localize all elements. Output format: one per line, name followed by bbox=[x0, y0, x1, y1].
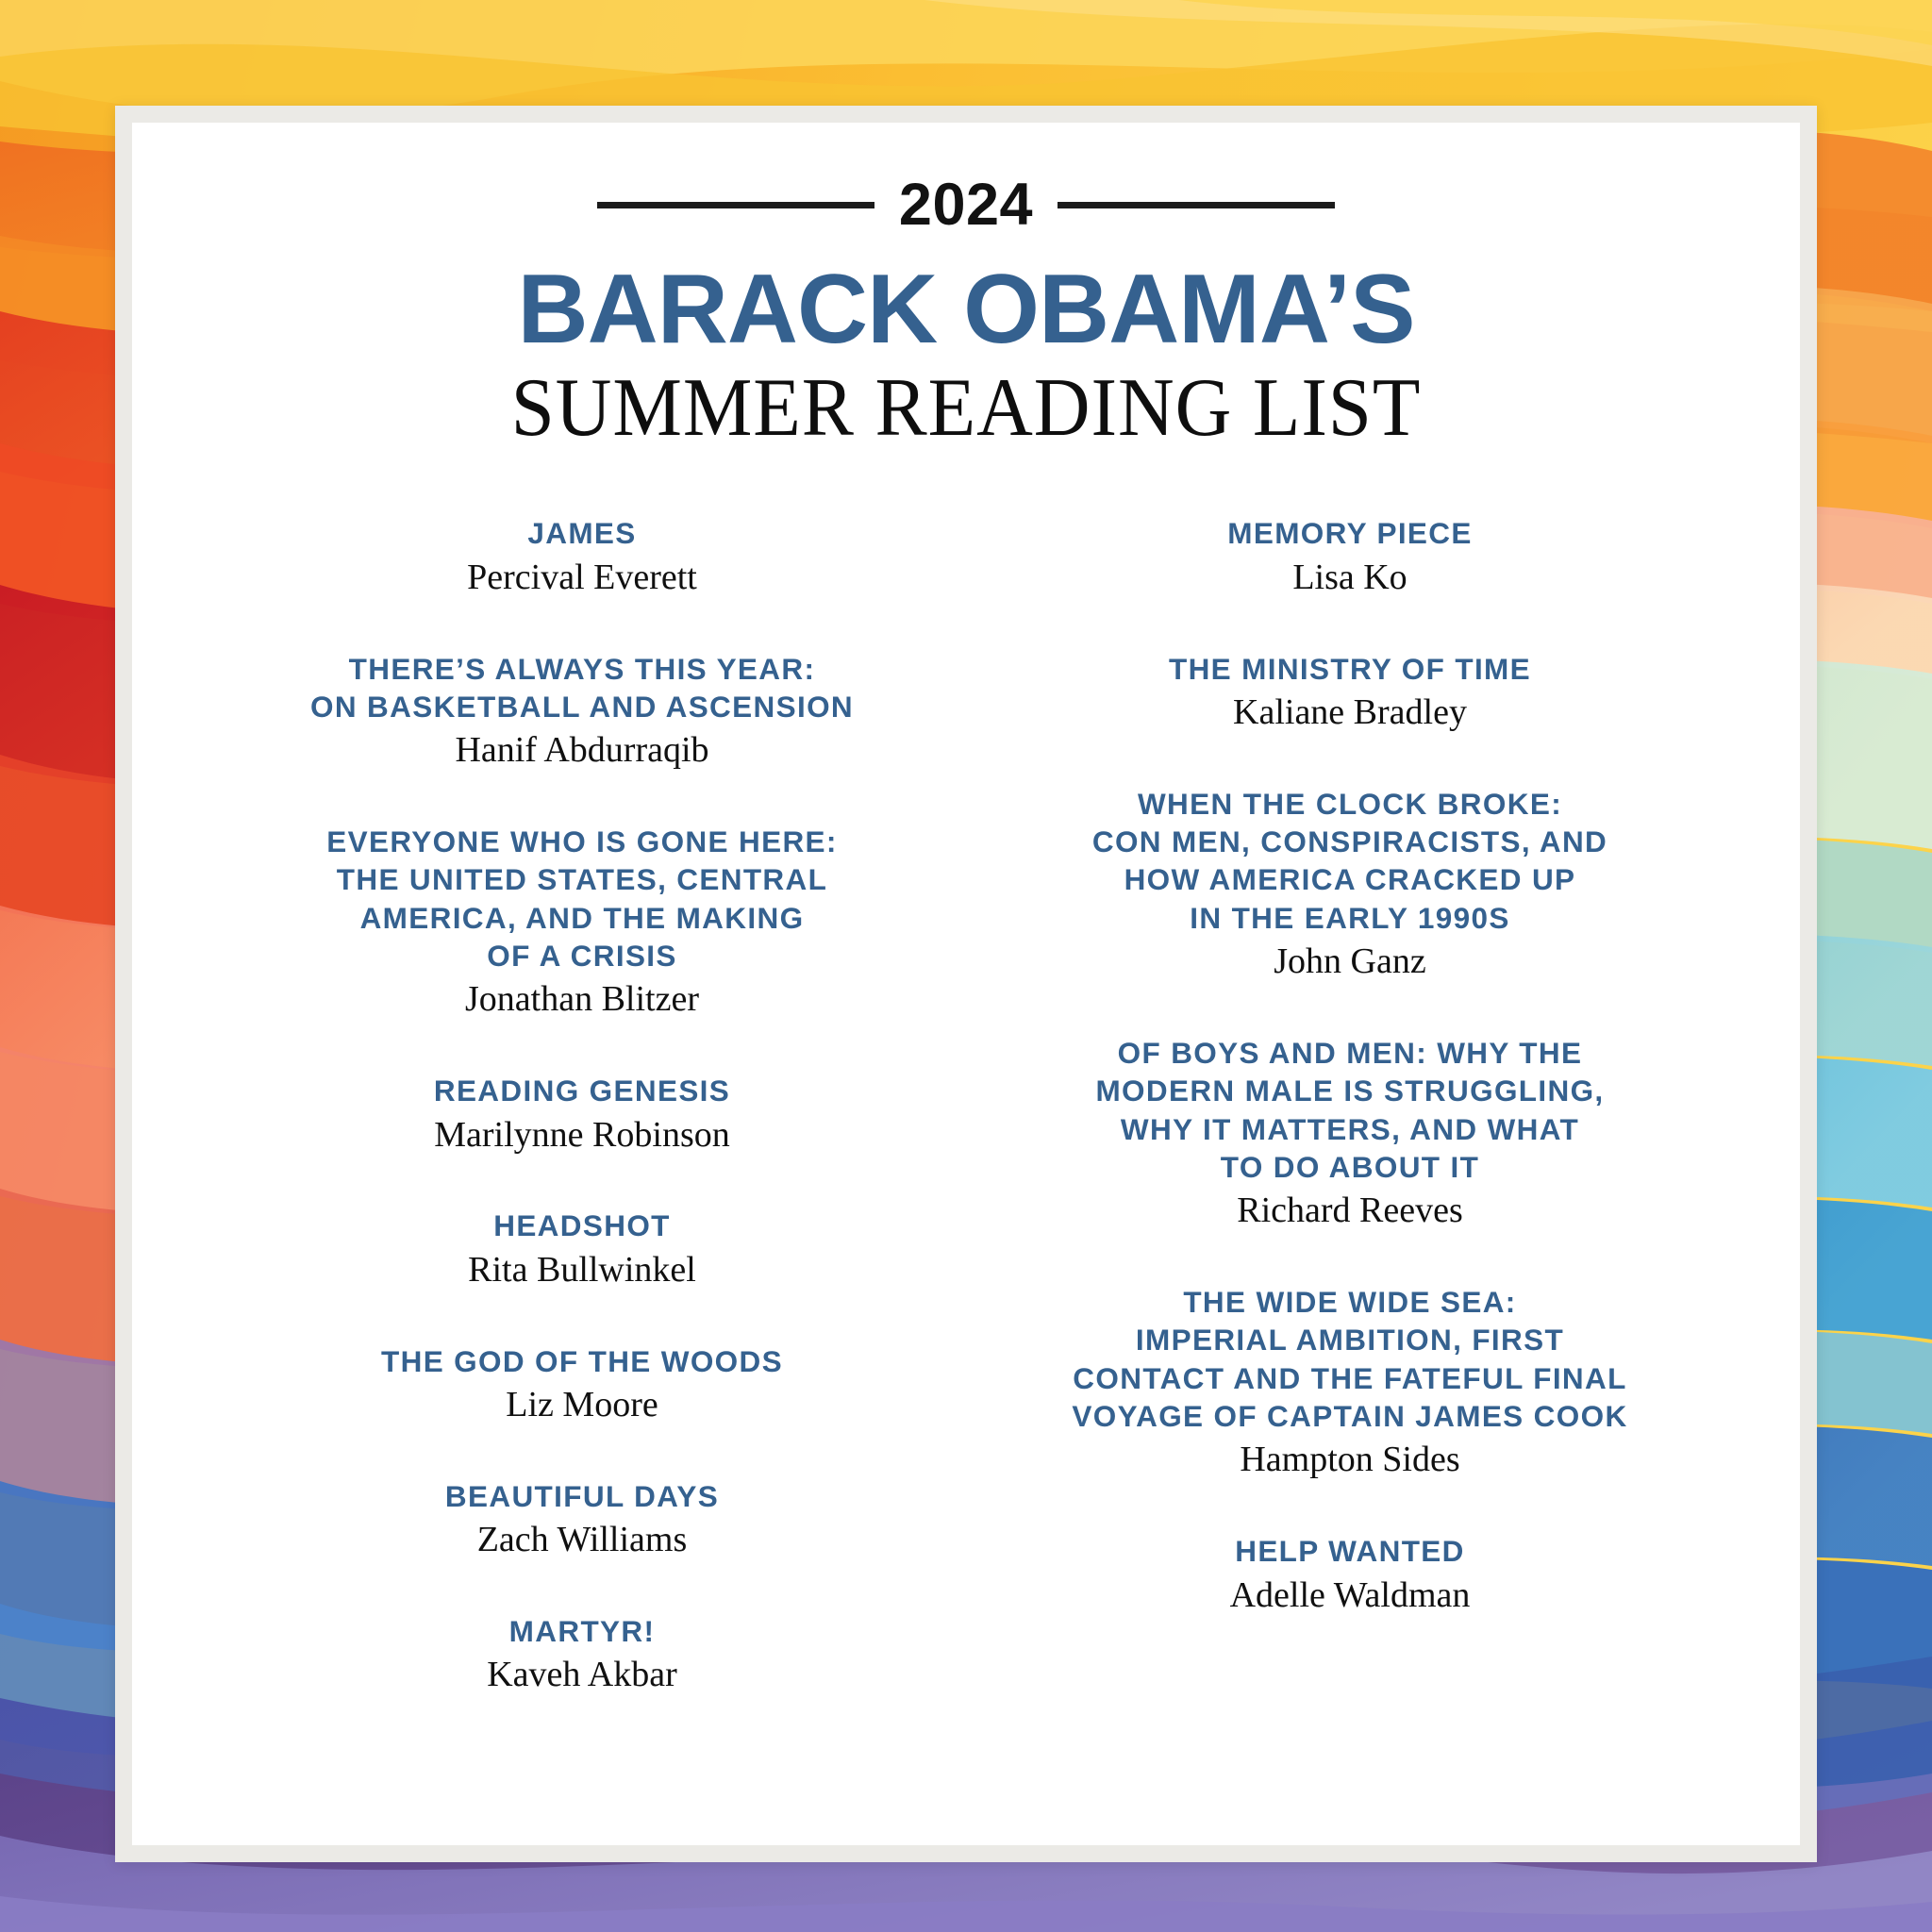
book-title: THERE’S ALWAYS THIS YEAR:ON BASKETBALL A… bbox=[219, 650, 945, 726]
book-author: Hampton Sides bbox=[987, 1438, 1713, 1483]
poster-header: 2024 BARACK OBAMA’S SUMMER READING LIST bbox=[132, 175, 1800, 452]
book-entry: THE WIDE WIDE SEA:IMPERIAL AMBITION, FIR… bbox=[987, 1283, 1713, 1483]
page-subtitle: SUMMER READING LIST bbox=[182, 365, 1750, 452]
book-entry: OF BOYS AND MEN: WHY THEMODERN MALE IS S… bbox=[987, 1034, 1713, 1234]
year-row: 2024 bbox=[132, 175, 1800, 235]
page-title: BARACK OBAMA’S bbox=[132, 259, 1800, 359]
book-author: Percival Everett bbox=[219, 556, 945, 601]
book-author: Adelle Waldman bbox=[987, 1574, 1713, 1619]
book-title: HELP WANTED bbox=[987, 1532, 1713, 1570]
book-entry: READING GENESISMarilynne Robinson bbox=[219, 1072, 945, 1158]
book-column-right: MEMORY PIECELisa KoTHE MINISTRY OF TIMEK… bbox=[966, 514, 1734, 1698]
book-author: Liz Moore bbox=[219, 1383, 945, 1428]
poster-card: 2024 BARACK OBAMA’S SUMMER READING LIST … bbox=[115, 106, 1817, 1862]
year-label: 2024 bbox=[899, 175, 1033, 235]
rule-right-decoration bbox=[1058, 202, 1335, 208]
book-entry: EVERYONE WHO IS GONE HERE:THE UNITED STA… bbox=[219, 823, 945, 1023]
book-author: Marilynne Robinson bbox=[219, 1113, 945, 1158]
book-columns: JAMESPercival EverettTHERE’S ALWAYS THIS… bbox=[132, 514, 1800, 1698]
book-author: Kaliane Bradley bbox=[987, 691, 1713, 736]
poster-card-inner: 2024 BARACK OBAMA’S SUMMER READING LIST … bbox=[132, 123, 1800, 1845]
book-entry: HEADSHOTRita Bullwinkel bbox=[219, 1207, 945, 1292]
book-title: READING GENESIS bbox=[219, 1072, 945, 1109]
book-title: MARTYR! bbox=[219, 1612, 945, 1650]
book-author: Hanif Abdurraqib bbox=[219, 728, 945, 774]
book-title: OF BOYS AND MEN: WHY THEMODERN MALE IS S… bbox=[987, 1034, 1713, 1186]
book-entry: JAMESPercival Everett bbox=[219, 514, 945, 600]
book-entry: WHEN THE CLOCK BROKE:CON MEN, CONSPIRACI… bbox=[987, 785, 1713, 985]
book-entry: THE MINISTRY OF TIMEKaliane Bradley bbox=[987, 650, 1713, 736]
book-entry: BEAUTIFUL DAYSZach Williams bbox=[219, 1477, 945, 1563]
book-entry: THE GOD OF THE WOODSLiz Moore bbox=[219, 1342, 945, 1428]
book-title: THE WIDE WIDE SEA:IMPERIAL AMBITION, FIR… bbox=[987, 1283, 1713, 1435]
rule-left-decoration bbox=[597, 202, 874, 208]
book-author: Zach Williams bbox=[219, 1518, 945, 1563]
book-author: Richard Reeves bbox=[987, 1189, 1713, 1234]
book-title: HEADSHOT bbox=[219, 1207, 945, 1244]
book-title: MEMORY PIECE bbox=[987, 514, 1713, 552]
book-title: BEAUTIFUL DAYS bbox=[219, 1477, 945, 1515]
book-title: THE GOD OF THE WOODS bbox=[219, 1342, 945, 1380]
book-author: Jonathan Blitzer bbox=[219, 977, 945, 1023]
book-entry: MEMORY PIECELisa Ko bbox=[987, 514, 1713, 600]
book-title: THE MINISTRY OF TIME bbox=[987, 650, 1713, 688]
book-author: Kaveh Akbar bbox=[219, 1653, 945, 1698]
book-column-left: JAMESPercival EverettTHERE’S ALWAYS THIS… bbox=[198, 514, 966, 1698]
book-author: John Ganz bbox=[987, 940, 1713, 985]
book-entry: HELP WANTEDAdelle Waldman bbox=[987, 1532, 1713, 1618]
book-author: Rita Bullwinkel bbox=[219, 1248, 945, 1293]
book-title: EVERYONE WHO IS GONE HERE:THE UNITED STA… bbox=[219, 823, 945, 974]
book-entry: MARTYR!Kaveh Akbar bbox=[219, 1612, 945, 1698]
book-title: WHEN THE CLOCK BROKE:CON MEN, CONSPIRACI… bbox=[987, 785, 1713, 937]
book-author: Lisa Ko bbox=[987, 556, 1713, 601]
book-title: JAMES bbox=[219, 514, 945, 552]
book-entry: THERE’S ALWAYS THIS YEAR:ON BASKETBALL A… bbox=[219, 650, 945, 774]
